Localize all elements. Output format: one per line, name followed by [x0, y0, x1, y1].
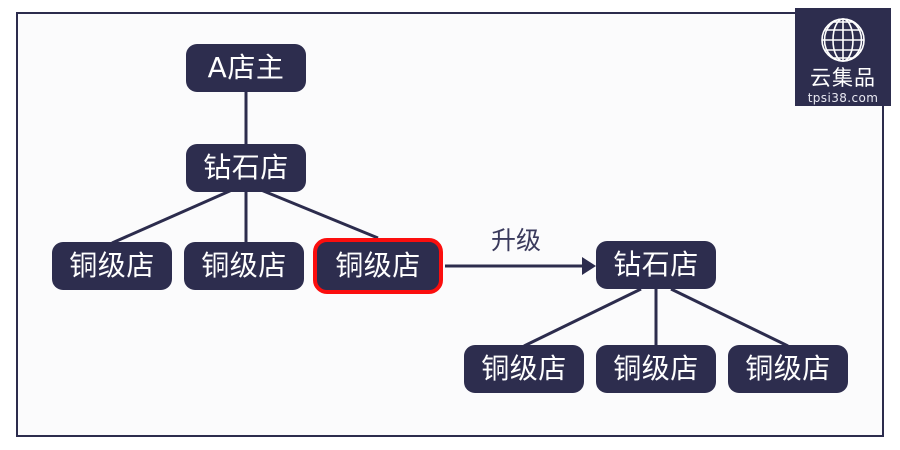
brand-url: tpsi38.com	[808, 92, 879, 104]
node-bronze-shop-right-1[interactable]: 铜级店	[464, 345, 584, 393]
node-label: 钻石店	[613, 251, 699, 279]
node-bronze-shop-right-3[interactable]: 铜级店	[728, 345, 848, 393]
node-label: 铜级店	[335, 252, 421, 280]
globe-icon	[815, 14, 871, 66]
node-bronze-shop-left-3-highlighted[interactable]: 铜级店	[313, 238, 443, 294]
node-diamond-shop-left[interactable]: 钻石店	[186, 144, 306, 192]
brand-name-cn: 云集品	[810, 68, 876, 89]
node-label: 铜级店	[201, 252, 287, 280]
node-bronze-shop-left-2[interactable]: 铜级店	[184, 242, 304, 290]
node-label: 钻石店	[203, 154, 289, 182]
node-label: A店主	[208, 54, 285, 82]
node-diamond-shop-right[interactable]: 钻石店	[596, 241, 716, 289]
diagram-canvas: A店主 钻石店 铜级店 铜级店 铜级店 升级 钻石店 铜级店 铜级店 铜级店	[0, 0, 900, 450]
upgrade-label-text: 升级	[491, 226, 541, 255]
upgrade-label: 升级	[488, 228, 544, 253]
node-label: 铜级店	[69, 252, 155, 280]
brand-watermark-panel: 云集品 tpsi38.com	[795, 8, 891, 106]
node-label: 铜级店	[613, 355, 699, 383]
node-bronze-shop-right-2[interactable]: 铜级店	[596, 345, 716, 393]
node-a-shop-owner[interactable]: A店主	[186, 44, 306, 92]
node-label: 铜级店	[745, 355, 831, 383]
node-bronze-shop-left-1[interactable]: 铜级店	[52, 242, 172, 290]
node-label: 铜级店	[481, 355, 567, 383]
